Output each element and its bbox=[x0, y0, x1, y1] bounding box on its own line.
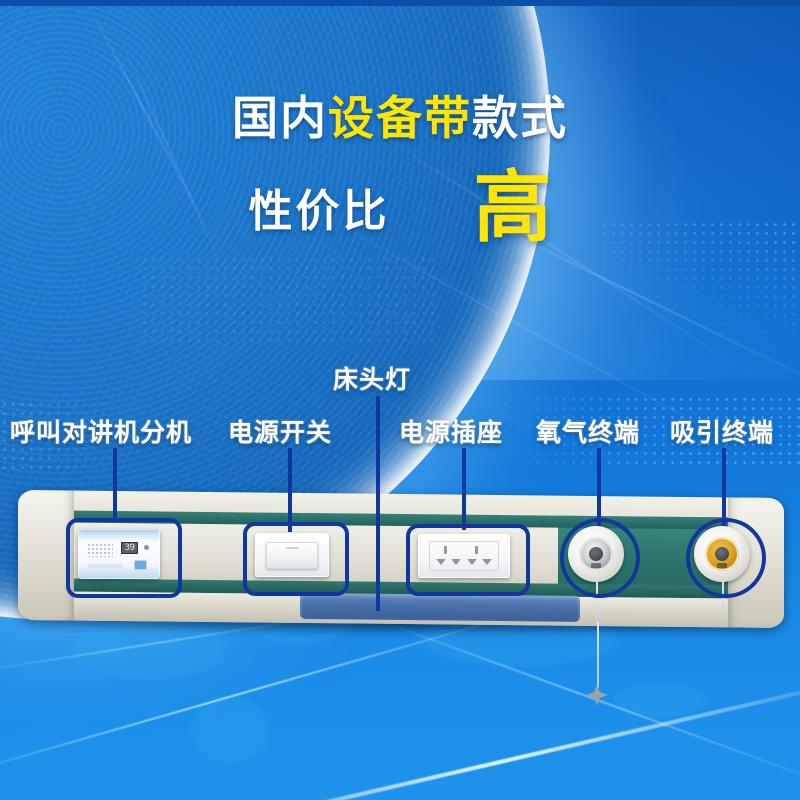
oxygen-terminal-tab bbox=[591, 563, 601, 568]
callout-label-bedlamp: 床头灯 bbox=[333, 360, 411, 396]
socket-pin-icon bbox=[475, 546, 478, 554]
light-streak bbox=[355, 611, 800, 791]
oxygen-pull-cord bbox=[596, 582, 598, 622]
subheadline-text: 性价比 bbox=[248, 175, 389, 239]
subheadline: 性价比高 bbox=[0, 170, 800, 244]
socket-pin-icon bbox=[467, 559, 477, 565]
intercom-slot bbox=[87, 564, 123, 568]
suction-terminal-port bbox=[705, 537, 739, 571]
rocker-mark-icon bbox=[286, 547, 299, 549]
socket-pin-icon bbox=[451, 559, 461, 565]
intercom-display: 39 bbox=[121, 542, 138, 554]
headline: 国内设备带款式 bbox=[0, 82, 800, 148]
oxygen-pull-cord-lower bbox=[597, 622, 599, 688]
suction-terminal-tab bbox=[717, 563, 727, 568]
callout-label-socket: 电源插座 bbox=[399, 413, 503, 449]
speaker-grille-icon bbox=[87, 543, 113, 557]
socket-pin-icon bbox=[436, 559, 446, 565]
callout-label-switch: 电源开关 bbox=[228, 413, 332, 449]
call-button[interactable] bbox=[134, 560, 147, 570]
rocker-paddle[interactable] bbox=[266, 542, 318, 569]
oxygen-terminal-port bbox=[579, 537, 613, 571]
leader-line-socket bbox=[462, 448, 466, 530]
oxygen-terminal[interactable] bbox=[568, 526, 624, 582]
leader-line-bedlamp bbox=[376, 396, 380, 611]
suction-pull-cord bbox=[722, 582, 724, 618]
socket-pin-icon bbox=[482, 559, 492, 565]
panel-channel-cover bbox=[300, 593, 580, 622]
power-socket[interactable] bbox=[418, 534, 510, 578]
socket-pin-icon bbox=[444, 546, 447, 554]
leader-line-switch bbox=[288, 448, 292, 532]
light-streak bbox=[108, 14, 232, 289]
power-switch[interactable] bbox=[255, 533, 329, 577]
suction-terminal[interactable] bbox=[694, 526, 750, 582]
promo-banner: 国内设备带款式 性价比高 呼叫对讲机分机 床头灯 电源开关 电源插座 氧气终端 … bbox=[0, 0, 800, 800]
callout-label-intercom: 呼叫对讲机分机 bbox=[10, 413, 192, 449]
leader-line-suction bbox=[722, 448, 726, 526]
suction-terminal-core bbox=[715, 547, 729, 561]
socket-faceplate bbox=[429, 541, 499, 571]
leader-line-oxygen bbox=[597, 448, 601, 528]
callout-label-suction: 吸引终端 bbox=[670, 413, 774, 449]
status-led-icon bbox=[144, 545, 149, 550]
subheadline-emphasis: 高 bbox=[473, 170, 551, 244]
leader-line-intercom bbox=[113, 448, 117, 522]
headline-part-2: 设备带 bbox=[328, 82, 472, 148]
nurse-call-intercom-unit[interactable]: 39 bbox=[78, 529, 160, 579]
halftone-dots bbox=[140, 255, 440, 345]
panel-endcap-left bbox=[18, 490, 74, 621]
headline-part-1: 国内 bbox=[232, 82, 328, 148]
callout-label-oxygen: 氧气终端 bbox=[536, 413, 640, 449]
oxygen-terminal-core bbox=[589, 547, 603, 561]
headline-part-3: 款式 bbox=[472, 82, 568, 148]
